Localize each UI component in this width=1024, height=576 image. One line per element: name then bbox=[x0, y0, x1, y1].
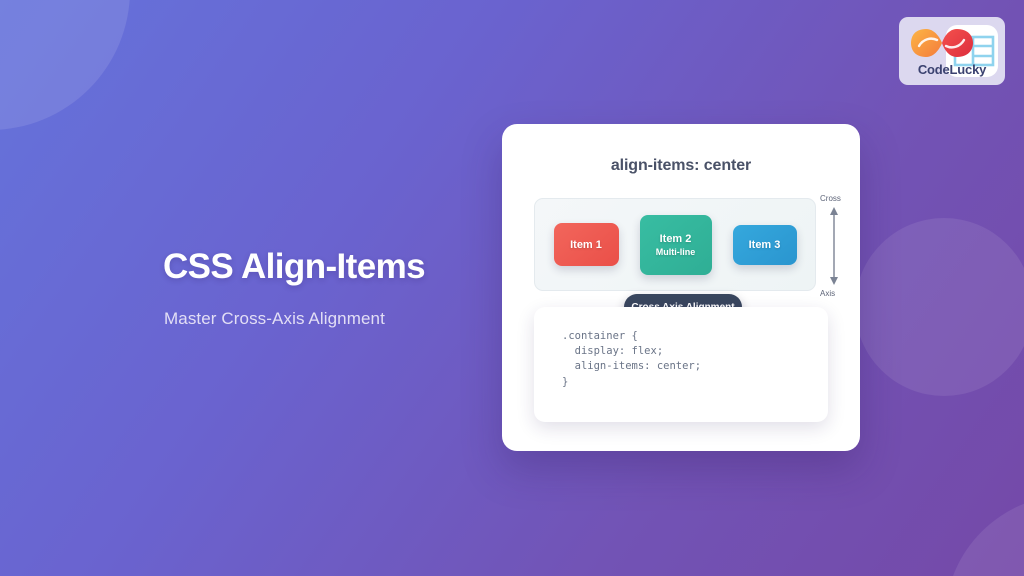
flex-item-2: Item 2 Multi-line bbox=[640, 215, 712, 275]
cross-axis-bottom-label: Axis bbox=[820, 289, 835, 298]
infinity-ribbon-icon bbox=[909, 26, 975, 60]
flex-item-3-label: Item 3 bbox=[749, 239, 781, 251]
brand-logo: CodeLucky bbox=[899, 17, 1005, 85]
flex-item-2-sublabel: Multi-line bbox=[656, 247, 696, 257]
code-snippet: .container { display: flex; align-items:… bbox=[562, 329, 828, 390]
cross-axis-indicator: Cross Axis bbox=[820, 194, 860, 298]
decorative-circle-top-left bbox=[0, 0, 130, 130]
slide-canvas: CodeLucky CSS Align-Items Master Cross-A… bbox=[0, 0, 1024, 576]
flex-item-2-label: Item 2 bbox=[660, 233, 692, 245]
brand-name: CodeLucky bbox=[899, 62, 1005, 77]
double-headed-vertical-arrow-icon bbox=[829, 207, 839, 285]
decorative-circle-middle-right bbox=[855, 218, 1024, 396]
decorative-circle-bottom-right bbox=[945, 495, 1024, 576]
demo-card: align-items: center Item 1 Item 2 Multi-… bbox=[502, 124, 860, 451]
flex-item-1: Item 1 bbox=[554, 223, 619, 266]
flex-container-demo: Item 1 Item 2 Multi-line Item 3 bbox=[534, 198, 816, 291]
page-subtitle: Master Cross-Axis Alignment bbox=[164, 309, 385, 329]
code-snippet-card: .container { display: flex; align-items:… bbox=[534, 307, 828, 422]
cross-axis-top-label: Cross bbox=[820, 194, 841, 203]
flex-item-3: Item 3 bbox=[733, 225, 797, 265]
page-title: CSS Align-Items bbox=[163, 247, 425, 287]
demo-card-title: align-items: center bbox=[502, 157, 860, 175]
flex-item-1-label: Item 1 bbox=[570, 239, 602, 251]
